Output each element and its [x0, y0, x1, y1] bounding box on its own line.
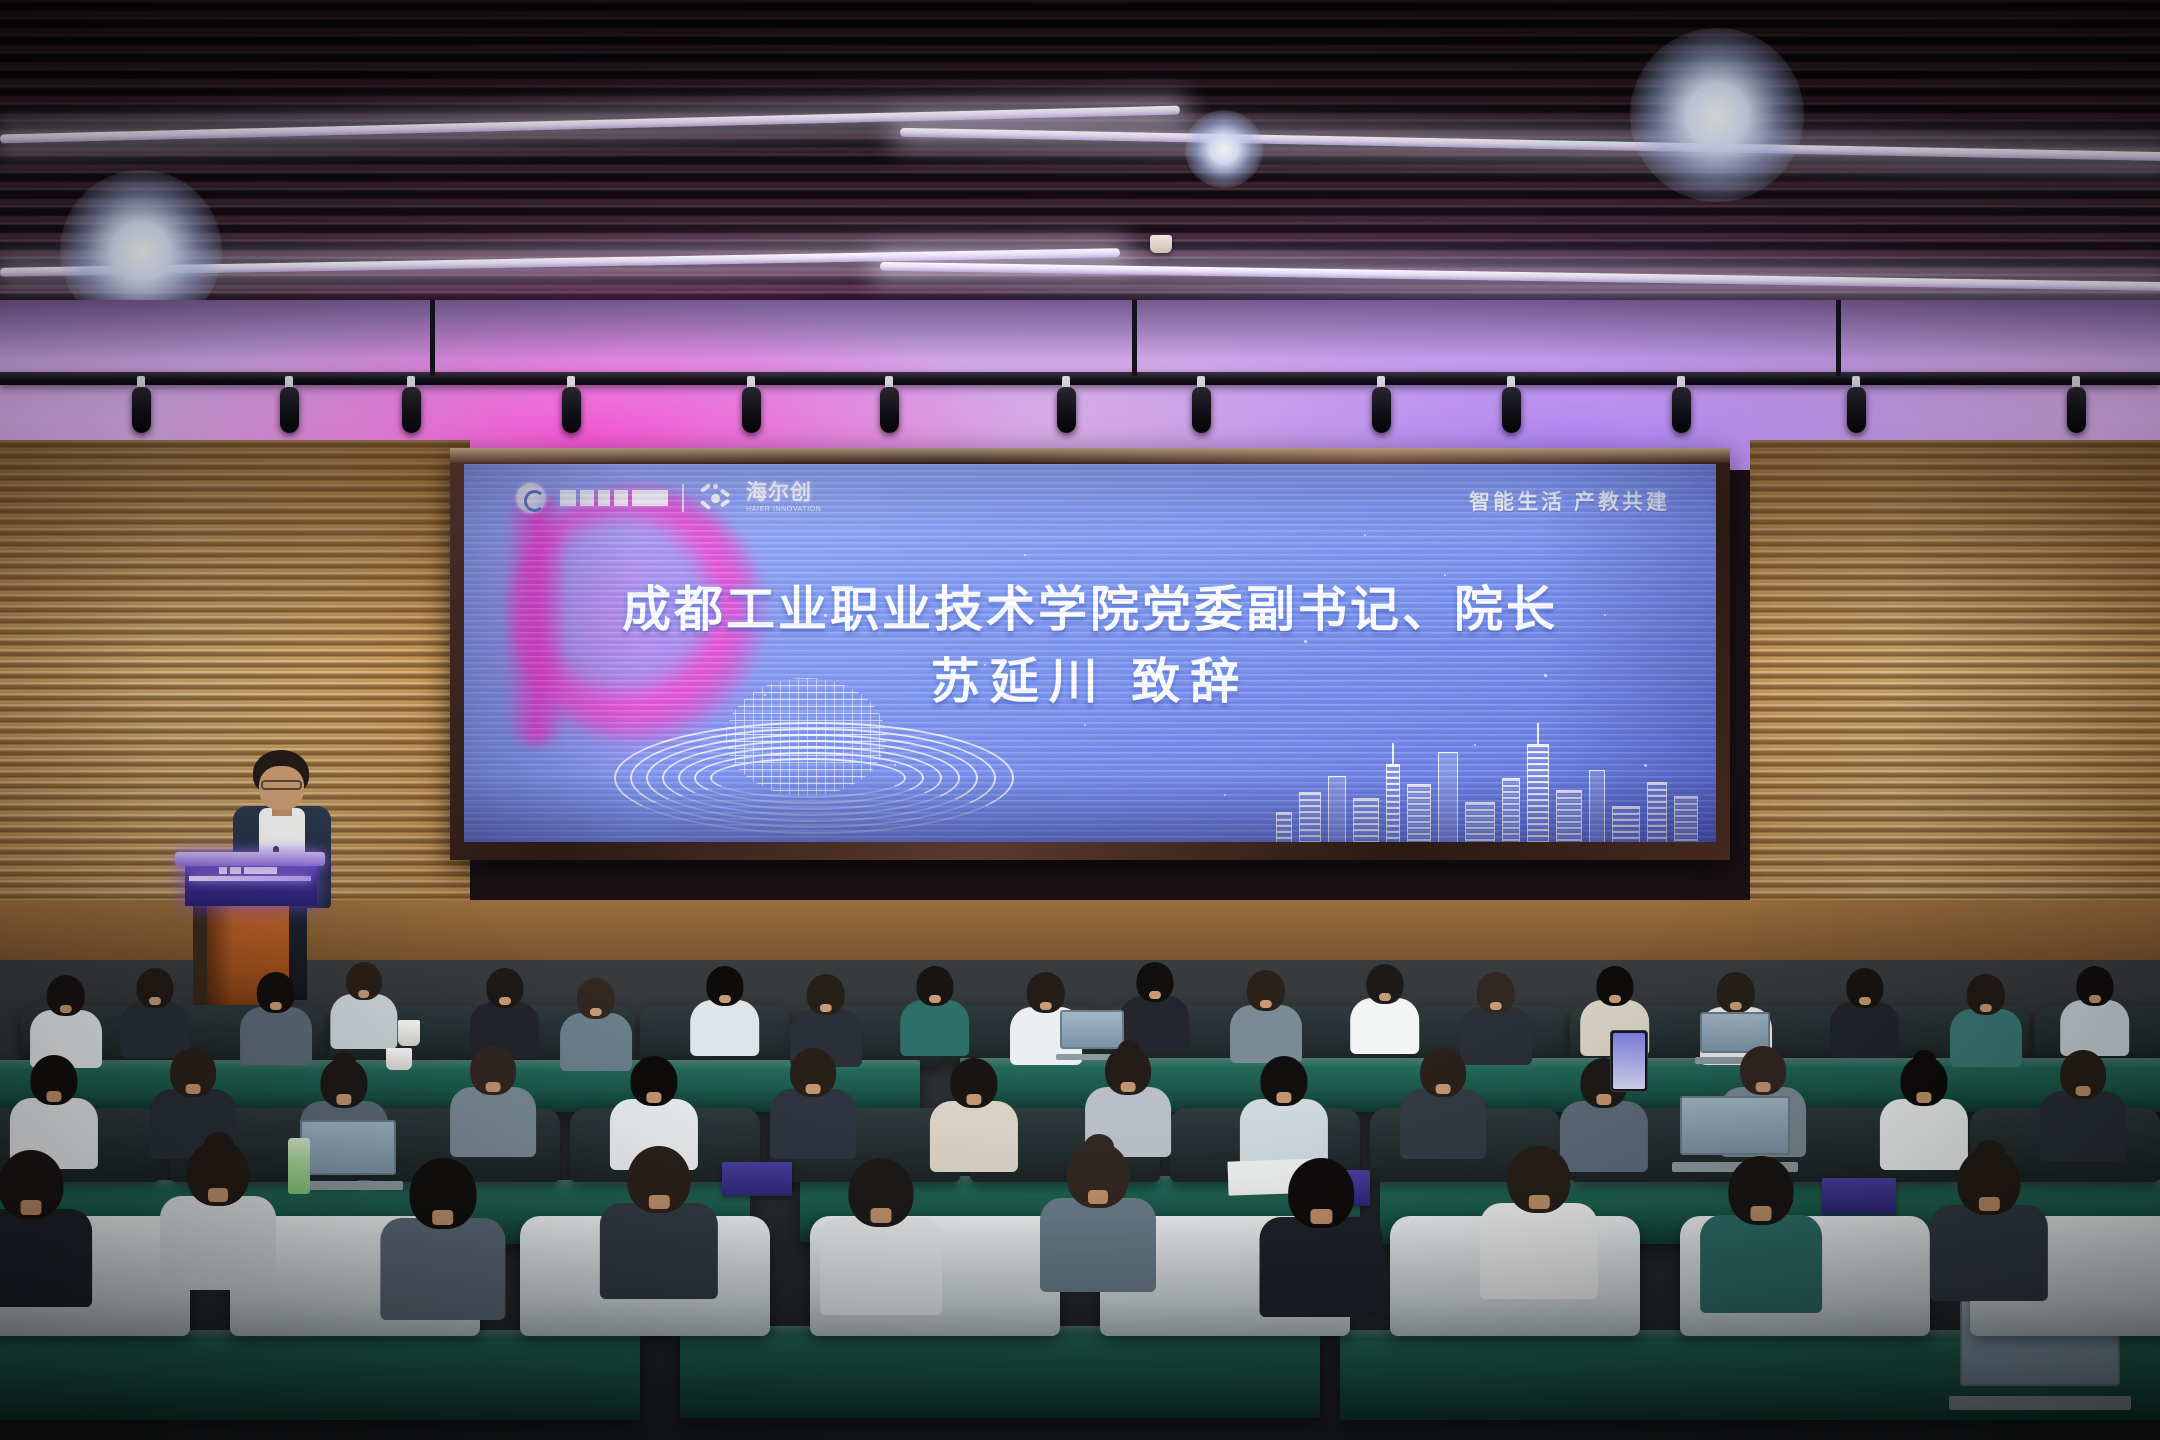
audience-member: [1350, 964, 1420, 1054]
audience-torso: [930, 1101, 1018, 1172]
audience-torso: [820, 1217, 942, 1316]
audience-neck: [1436, 1084, 1451, 1094]
audience-member: [2040, 1050, 2126, 1161]
audience-member: [1120, 962, 1190, 1052]
audience-neck: [46, 1091, 61, 1102]
audience-torso: [1040, 1198, 1156, 1292]
audience-torso: [1480, 1203, 1598, 1299]
audience-neck: [1859, 997, 1871, 1005]
audience-member: [1240, 1056, 1328, 1170]
star-dot: [1474, 744, 1476, 746]
audience-member: [240, 972, 312, 1065]
audience-member: [600, 1146, 718, 1299]
audience-member: [120, 968, 190, 1058]
audience-neck: [870, 1208, 891, 1223]
led-screen-frame: 海尔创 HAIER INNOVATION 智能生活 产教共建 成都工业职业技术学…: [450, 448, 1730, 860]
eyeglasses-icon: [261, 780, 302, 790]
screen-slogan: 智能生活 产教共建: [1469, 486, 1670, 516]
audience-torso: [1830, 1002, 1900, 1058]
audience-member: [1950, 974, 2022, 1067]
partner-name-en: HAIER INNOVATION: [746, 506, 821, 513]
audience-neck: [1529, 1195, 1549, 1209]
audience-neck: [20, 1200, 41, 1215]
paper-cup: [386, 1048, 412, 1070]
audience-neck: [1121, 1082, 1136, 1092]
audience-neck: [358, 990, 370, 998]
audience-member: [330, 962, 397, 1049]
audience-neck: [966, 1094, 981, 1105]
audience-torso: [2040, 1091, 2126, 1161]
audience-neck: [2089, 995, 2101, 1003]
hair-bun: [1084, 1134, 1114, 1160]
audience-member: [820, 1158, 942, 1316]
audience-neck: [208, 1188, 228, 1202]
star-dot: [1364, 534, 1366, 536]
podium-logo: [219, 867, 277, 874]
audience-member: [1480, 1146, 1598, 1299]
paper-cup: [398, 1020, 420, 1046]
ceiling-downlight: [1630, 28, 1804, 202]
audience-torso: [1700, 1215, 1822, 1314]
audience-neck: [270, 1002, 282, 1011]
city-skyline-icon: [1276, 734, 1698, 842]
hair-bun: [333, 1052, 356, 1072]
audience-neck: [646, 1092, 661, 1103]
audience-member: [930, 1058, 1018, 1172]
audience-neck: [719, 995, 731, 1003]
hair-bun: [1913, 1050, 1936, 1070]
audience-member: [1040, 1142, 1156, 1292]
logo-divider: [682, 484, 684, 512]
name-card: [1822, 1178, 1896, 1214]
truss-post: [430, 300, 435, 376]
audience-neck: [1756, 1082, 1771, 1092]
audience-torso: [0, 1209, 92, 1308]
audience-neck: [486, 1082, 501, 1092]
audience-neck: [929, 995, 941, 1003]
audience-member: [380, 1158, 505, 1320]
audience-member: [1830, 968, 1900, 1058]
headline-line-2: 苏延川 致辞: [506, 654, 1674, 712]
audience-torso: [1260, 1217, 1383, 1317]
truss-post: [1132, 300, 1137, 376]
circular-logo-icon: [516, 483, 546, 513]
podium-base-shadow: [207, 904, 233, 1012]
audience-member: [470, 968, 540, 1058]
audience-neck: [1088, 1190, 1108, 1204]
audience-torso: [1930, 1205, 2048, 1301]
smartphone-device: [1610, 1030, 1648, 1092]
water-bottle: [288, 1138, 310, 1194]
name-card: [722, 1162, 792, 1196]
audience-neck: [336, 1094, 351, 1105]
audience-torso: [450, 1087, 536, 1157]
star-dot: [1444, 574, 1446, 576]
audience-member: [1930, 1148, 2048, 1301]
audience-torso: [2060, 1000, 2130, 1056]
led-screen: 海尔创 HAIER INNOVATION 智能生活 产教共建 成都工业职业技术学…: [464, 464, 1716, 842]
star-dot: [1644, 764, 1647, 767]
audience-neck: [820, 1004, 832, 1013]
audience-neck: [806, 1084, 821, 1094]
conference-desk: [0, 1330, 640, 1420]
hair-bun: [1118, 1040, 1140, 1059]
audience-neck: [60, 1005, 72, 1014]
audience-member: [1230, 970, 1302, 1063]
star-dot: [1224, 794, 1226, 796]
audience-neck: [1490, 1002, 1502, 1011]
audience-member: [0, 1150, 92, 1308]
audience-torso: [1350, 998, 1420, 1054]
screen-logo-row: 海尔创 HAIER INNOVATION: [516, 482, 821, 513]
conference-hall-photo: 海尔创 HAIER INNOVATION 智能生活 产教共建 成都工业职业技术学…: [0, 0, 2160, 1440]
audience-neck: [1750, 1206, 1771, 1221]
audience-torso: [690, 1000, 760, 1056]
podium-top-surface: [175, 852, 325, 866]
audience-neck: [149, 997, 161, 1005]
audience-torso: [380, 1218, 505, 1320]
wordmark-logo: [560, 490, 668, 506]
audience-member: [1260, 1158, 1383, 1317]
audience-member: [690, 966, 760, 1056]
audience-torso: [600, 1203, 718, 1299]
audience-neck: [1260, 1000, 1272, 1009]
audience-torso: [1230, 1005, 1302, 1063]
audience-torso: [770, 1089, 856, 1159]
audience-neck: [186, 1084, 201, 1094]
audience-torso: [900, 1000, 970, 1056]
audience-member: [160, 1140, 276, 1290]
screen-headline: 成都工业职业技术学院党委副书记、院长 苏延川 致辞: [464, 582, 1716, 712]
partner-name-cn: 海尔创: [746, 482, 821, 503]
audience-neck: [590, 1008, 602, 1017]
audience-member: [900, 966, 970, 1056]
hair-bun: [204, 1132, 234, 1158]
audience-torso: [240, 1007, 312, 1065]
audience-neck: [1730, 1002, 1742, 1011]
star-dot: [1024, 554, 1026, 556]
audience-neck: [1311, 1209, 1332, 1224]
audience-neck: [1276, 1092, 1291, 1103]
audience-neck: [1040, 1002, 1052, 1011]
audience-torso: [330, 994, 397, 1049]
audience-neck: [1979, 1197, 1999, 1211]
audience-neck: [1149, 991, 1161, 999]
podium-light-stripe: [189, 876, 311, 881]
audience-neck: [1379, 993, 1391, 1001]
headline-line-1: 成都工业职业技术学院党委副书记、院长: [506, 582, 1674, 640]
audience-member: [770, 1048, 856, 1159]
star-dot: [894, 764, 896, 766]
audience-neck: [649, 1195, 669, 1209]
star-dot: [1084, 724, 1086, 726]
audience-torso: [1400, 1089, 1486, 1159]
truss-post: [1836, 300, 1841, 376]
conference-desk: [680, 1326, 1320, 1418]
audience-member: [1400, 1048, 1486, 1159]
audience-neck: [1916, 1092, 1931, 1103]
audience-neck: [1596, 1094, 1611, 1105]
ceiling-speaker: [1150, 235, 1172, 253]
audience-member: [2060, 966, 2130, 1056]
audience-neck: [1980, 1004, 1992, 1013]
ceiling-downlight: [1185, 110, 1263, 188]
audience-member: [450, 1046, 536, 1157]
audience-torso: [160, 1196, 276, 1290]
partner-star-icon: [698, 483, 732, 513]
audience-neck: [1609, 995, 1621, 1003]
audience-neck: [2076, 1086, 2091, 1096]
audience-neck: [432, 1210, 454, 1225]
audience-member: [1700, 1156, 1822, 1314]
audience-neck: [499, 997, 511, 1005]
